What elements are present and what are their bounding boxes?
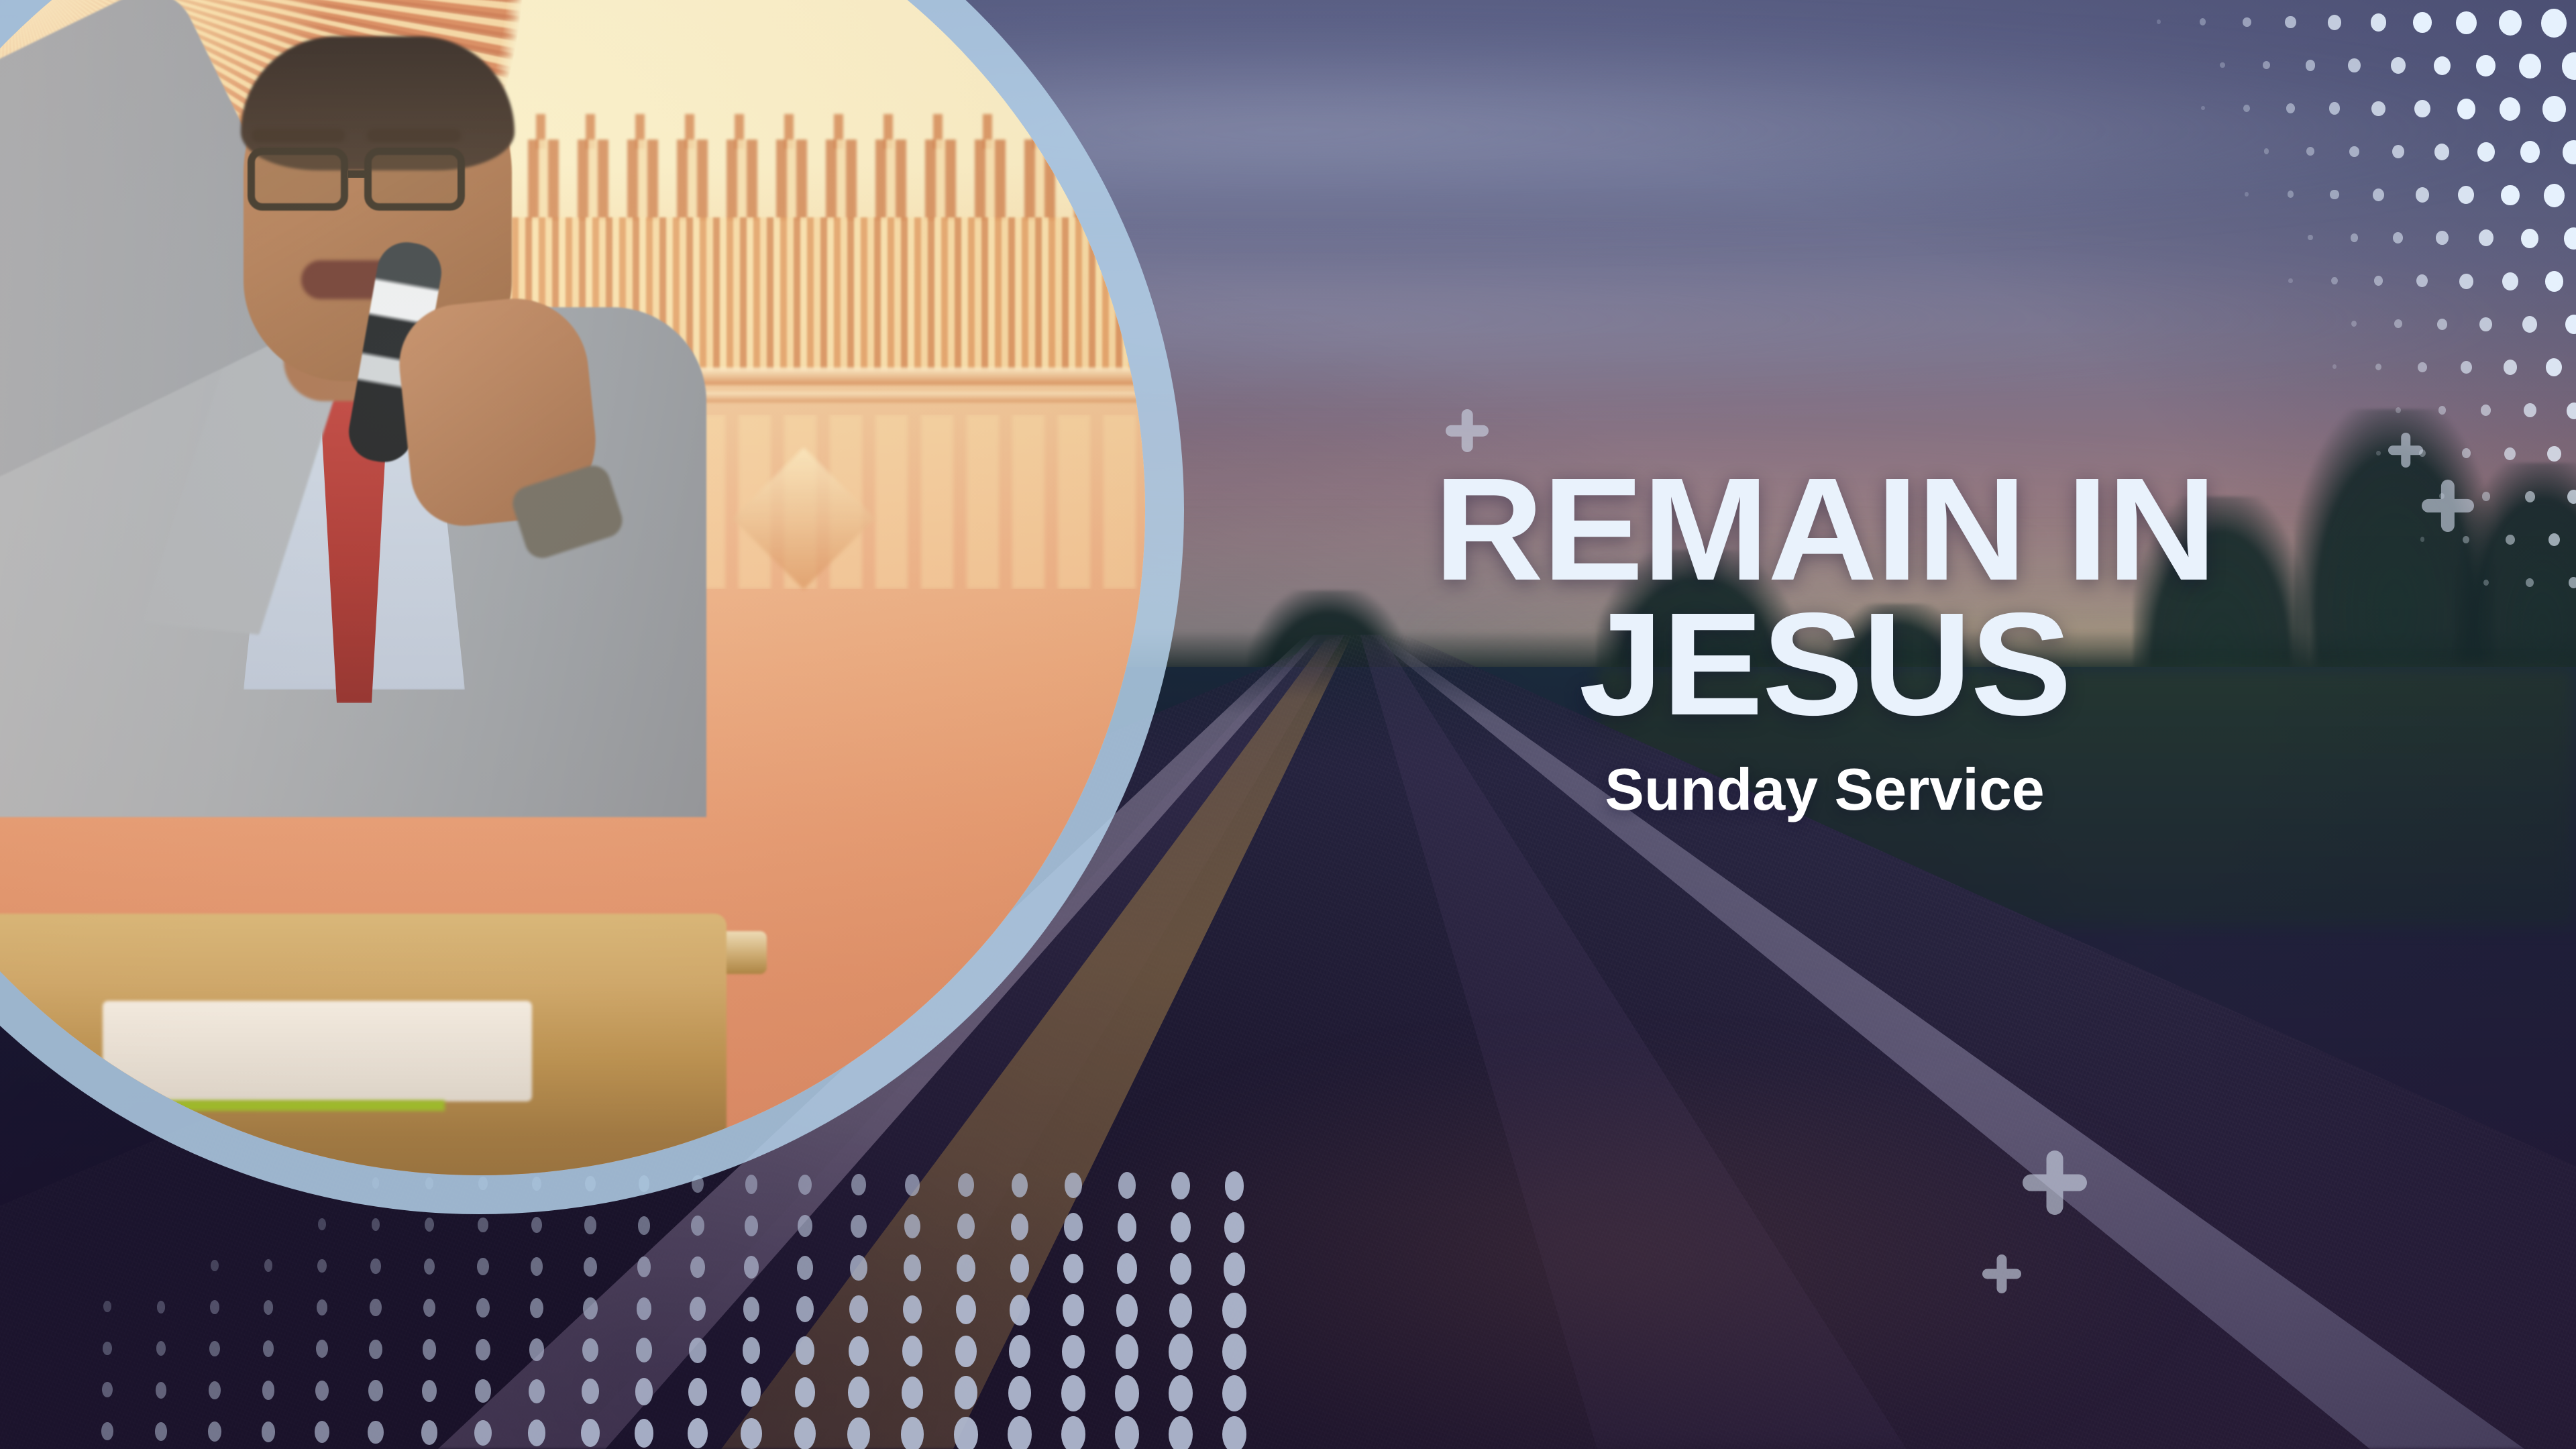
portrait-warm-overlay — [0, 0, 1145, 1175]
page-title: REMAIN IN JESUS — [1277, 463, 2373, 732]
subtitle: Sunday Service — [1298, 760, 2351, 819]
portrait-photo — [0, 0, 1145, 1175]
title-line-2: JESUS — [1277, 598, 2373, 733]
flyer-canvas: REMAIN IN JESUS Sunday Service — [0, 0, 2576, 1449]
portrait-circle — [0, 0, 1184, 1214]
headline-block: REMAIN IN JESUS Sunday Service — [1298, 463, 2351, 819]
